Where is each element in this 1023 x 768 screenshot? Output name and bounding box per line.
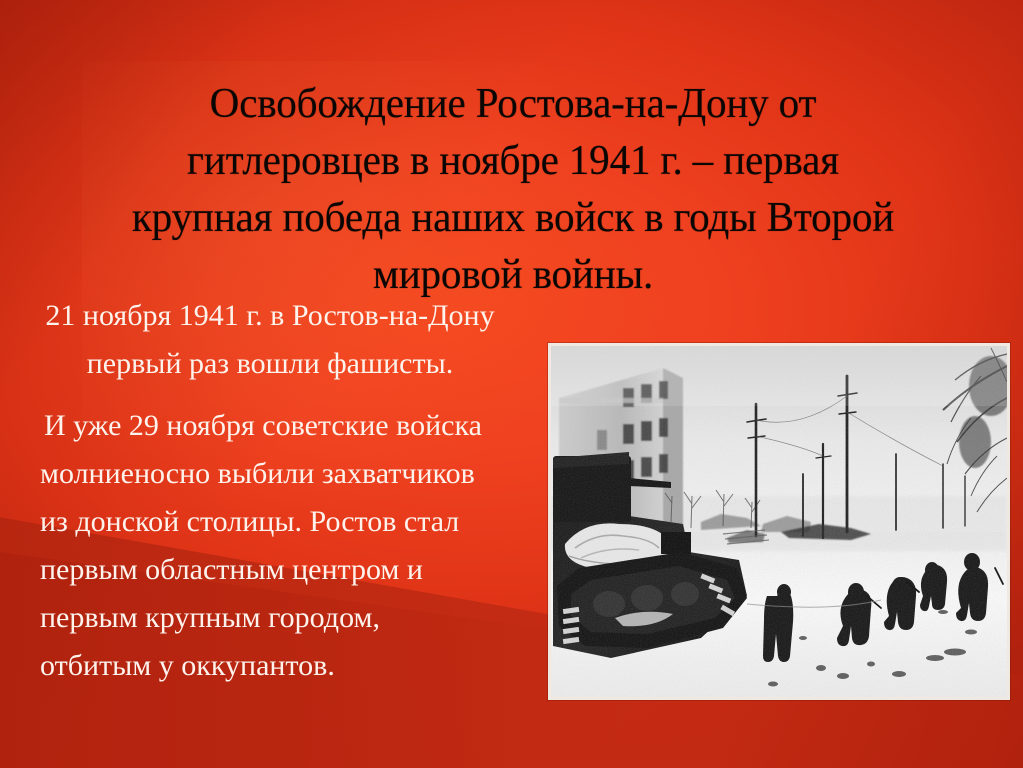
body-paragraph-2: И уже 29 ноября советские войска молниен… xyxy=(10,402,540,690)
paragraph-1-line-2: первый раз вошли фашисты. xyxy=(10,340,530,388)
body-paragraph-1: 21 ноября 1941 г. в Ростов-на-Дону первы… xyxy=(10,292,530,388)
title-line-2: гитлеровцев в ноябре 1941 г. – первая xyxy=(32,133,994,190)
historical-photo xyxy=(551,346,1007,697)
historical-photo-frame xyxy=(548,343,1010,700)
presentation-slide: Освобождение Ростова-на-Дону от гитлеров… xyxy=(0,0,1023,768)
title-line-1: Освобождение Ростова-на-Дону от xyxy=(32,76,994,133)
paragraph-2-line-4: первым областным центром и xyxy=(40,546,540,594)
paragraph-2-line-5: первым крупным городом, xyxy=(40,594,540,642)
paragraph-2-line-1: И уже 29 ноября советские войска xyxy=(44,402,540,450)
title-line-3: крупная победа наших войск в годы Второй xyxy=(32,190,994,247)
slide-body-text: 21 ноября 1941 г. в Ростов-на-Дону первы… xyxy=(10,292,550,690)
paragraph-1-line-1: 21 ноября 1941 г. в Ростов-на-Дону xyxy=(10,292,530,340)
slide-title: Освобождение Ростова-на-Дону от гитлеров… xyxy=(32,76,994,304)
paragraph-2-line-3: из донской столицы. Ростов стал xyxy=(40,498,540,546)
paragraph-2-line-2: молниеносно выбили захватчиков xyxy=(40,450,540,498)
paragraph-2-line-6: отбитым у оккупантов. xyxy=(40,642,540,690)
